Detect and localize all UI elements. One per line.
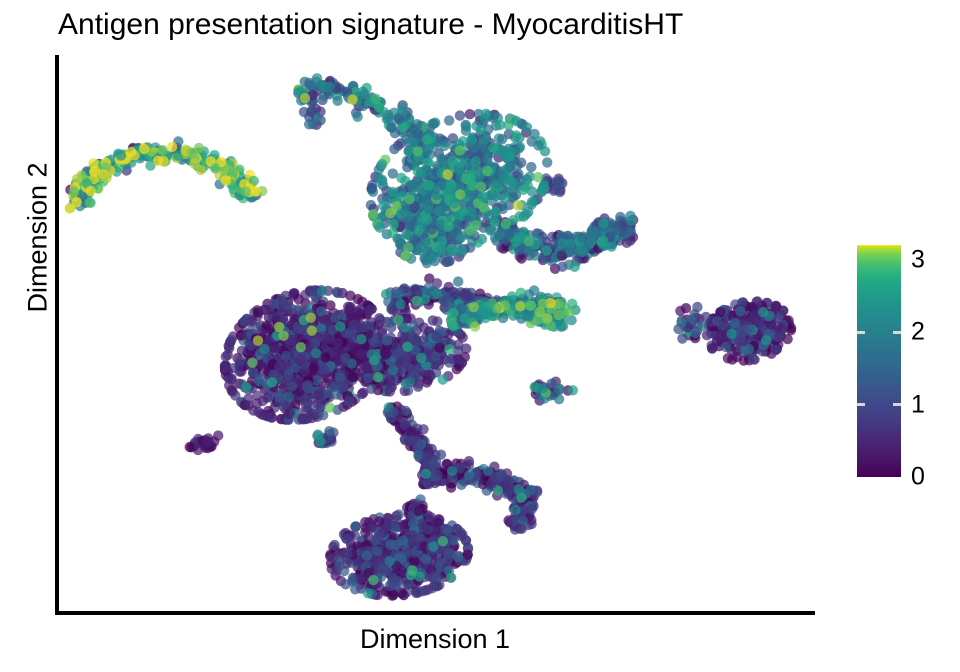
scatter-point [692, 302, 702, 312]
scatter-point [259, 305, 269, 315]
scatter-point [311, 348, 321, 358]
scatter-point [333, 288, 343, 298]
scatter-point [341, 579, 351, 589]
scatter-point [539, 181, 549, 191]
scatter-point [517, 524, 527, 534]
scatter-point [453, 552, 463, 562]
scatter-point [281, 351, 291, 361]
scatter-point [701, 312, 711, 322]
scatter-point [404, 194, 414, 204]
scatter-point [313, 429, 323, 439]
scatter-point [368, 575, 378, 585]
scatter-point [378, 107, 388, 117]
scatter-point [366, 384, 376, 394]
colorbar-tick-mark [857, 331, 865, 334]
scatter-point [306, 313, 316, 323]
scatter-point [516, 158, 526, 168]
scatter-point [284, 408, 294, 418]
colorbar-tick-mark [893, 331, 901, 334]
scatter-point [478, 191, 488, 201]
scatter-point [505, 161, 515, 171]
scatter-point [274, 322, 284, 332]
scatter-point [557, 250, 567, 260]
scatter-point [519, 211, 529, 221]
scatter-point [374, 527, 384, 537]
scatter-point [72, 174, 82, 184]
scatter-point [299, 414, 309, 424]
scatter-point [235, 356, 245, 366]
scatter-point [372, 546, 382, 556]
scatter-point [373, 372, 383, 382]
scatter-point [347, 332, 357, 342]
scatter-point [301, 381, 311, 391]
scatter-point [267, 377, 277, 387]
scatter-point [438, 536, 448, 546]
scatter-point [472, 121, 482, 131]
scatter-point [278, 331, 288, 341]
scatter-point [382, 521, 392, 531]
scatter-point [283, 300, 293, 310]
scatter-point [325, 402, 335, 412]
scatter-point [293, 304, 303, 314]
scatter-point [436, 450, 446, 460]
scatter-point [432, 316, 442, 326]
scatter-point [432, 331, 442, 341]
scatter-point [365, 305, 375, 315]
colorbar-tick-label: 2 [911, 318, 925, 347]
scatter-point [407, 435, 417, 445]
scatter-point [388, 365, 398, 375]
scatter-point [362, 550, 372, 560]
scatter-point [116, 150, 126, 160]
scatter-point [455, 189, 465, 199]
scatter-point [730, 318, 740, 328]
scatter-point [465, 173, 475, 183]
scatter-point [673, 324, 683, 334]
scatter-point [332, 96, 342, 106]
scatter-point [727, 354, 737, 364]
scatter-point [316, 306, 326, 316]
scatter-point [189, 159, 199, 169]
scatter-point [359, 89, 369, 99]
scatter-point [677, 333, 687, 343]
scatter-point [412, 119, 422, 129]
scatter-point [526, 162, 536, 172]
scatter-point [86, 186, 96, 196]
scatter-point [527, 197, 537, 207]
scatter-point [466, 206, 476, 216]
scatter-point [226, 335, 236, 345]
scatter-point [203, 433, 213, 443]
scatter-point [513, 200, 523, 210]
scatter-point [88, 158, 98, 168]
scatter-point [460, 313, 470, 323]
plot-area [59, 55, 815, 611]
scatter-point [452, 364, 462, 374]
scatter-point [427, 253, 437, 263]
scatter-point [394, 234, 404, 244]
scatter-point [226, 374, 236, 384]
scatter-point [284, 370, 294, 380]
scatter-point [453, 276, 463, 286]
scatter-point [300, 93, 310, 103]
scatter-point [388, 407, 398, 417]
colorbar-gradient [857, 245, 901, 477]
scatter-point [391, 515, 401, 525]
scatter-point [400, 323, 410, 333]
scatter-point [524, 236, 534, 246]
scatter-point [369, 355, 379, 365]
scatter-point [409, 332, 419, 342]
scatter-point [411, 588, 421, 598]
scatter-point [440, 204, 450, 214]
scatter-point [126, 147, 136, 157]
scatter-point [317, 286, 327, 296]
scatter-point [516, 288, 526, 298]
scatter-point [416, 353, 426, 363]
scatter-point [675, 306, 685, 316]
scatter-point [375, 222, 385, 232]
scatter-point [542, 157, 552, 167]
scatter-point [382, 335, 392, 345]
scatter-point [771, 301, 781, 311]
scatter-point [221, 351, 231, 361]
scatter-point [296, 342, 306, 352]
scatter-point [470, 321, 480, 331]
scatter-point [378, 200, 388, 210]
scatter-point [422, 134, 432, 144]
scatter-points-layer [59, 55, 815, 611]
scatter-point [448, 246, 458, 256]
scatter-point [348, 372, 358, 382]
scatter-point [368, 209, 378, 219]
scatter-point [707, 343, 717, 353]
scatter-point [187, 147, 197, 157]
scatter-point [335, 321, 345, 331]
scatter-point [293, 294, 303, 304]
scatter-point [377, 174, 387, 184]
scatter-point [262, 393, 272, 403]
scatter-point [481, 134, 491, 144]
scatter-point [540, 146, 550, 156]
scatter-point [484, 211, 494, 221]
scatter-point [262, 411, 272, 421]
scatter-point [360, 322, 370, 332]
scatter-point [443, 526, 453, 536]
scatter-point [342, 534, 352, 544]
scatter-point [432, 573, 442, 583]
scatter-point [514, 484, 524, 494]
scatter-point [377, 564, 387, 574]
scatter-point [488, 143, 498, 153]
scatter-point [253, 335, 263, 345]
scatter-point [153, 156, 163, 166]
scatter-point [309, 363, 319, 373]
scatter-point [271, 343, 281, 353]
scatter-point [210, 163, 220, 173]
scatter-point [430, 118, 440, 128]
scatter-point [356, 349, 366, 359]
scatter-point [576, 244, 586, 254]
scatter-point [157, 145, 167, 155]
scatter-point [307, 326, 317, 336]
scatter-point [319, 364, 329, 374]
scatter-point [381, 289, 391, 299]
scatter-point [535, 307, 545, 317]
scatter-point [424, 181, 434, 191]
scatter-point [340, 353, 350, 363]
scatter-point [396, 209, 406, 219]
scatter-point [578, 233, 588, 243]
scatter-point [402, 342, 412, 352]
scatter-point [469, 302, 479, 312]
scatter-point [524, 311, 534, 321]
scatter-point [453, 340, 463, 350]
scatter-point [457, 244, 467, 254]
scatter-point [329, 540, 339, 550]
scatter-point [515, 301, 525, 311]
scatter-point [228, 167, 238, 177]
scatter-point [352, 112, 362, 122]
scatter-point [529, 129, 539, 139]
scatter-point [744, 324, 754, 334]
scatter-point [446, 181, 456, 191]
scatter-point [557, 238, 567, 248]
scatter-point [413, 146, 423, 156]
scatter-point [241, 382, 251, 392]
scatter-point [446, 482, 456, 492]
scatter-point [167, 142, 177, 152]
scatter-point [461, 121, 471, 131]
scatter-point [455, 110, 465, 120]
scatter-point [598, 218, 608, 228]
scatter-point [335, 560, 345, 570]
scatter-point [526, 301, 536, 311]
scatter-point [719, 320, 729, 330]
scatter-point [343, 302, 353, 312]
scatter-point [455, 145, 465, 155]
scatter-point [715, 307, 725, 317]
scatter-point [241, 314, 251, 324]
colorbar-tick-mark [857, 403, 865, 406]
scatter-point [432, 289, 442, 299]
scatter-point [511, 116, 521, 126]
scatter-point [497, 134, 507, 144]
scatter-point [69, 186, 79, 196]
scatter-point [498, 313, 508, 323]
scatter-point [71, 197, 81, 207]
scatter-point [324, 334, 334, 344]
scatter-point [430, 461, 440, 471]
scatter-point [389, 144, 399, 154]
scatter-point [413, 128, 423, 138]
scatter-point [461, 291, 471, 301]
scatter-point [588, 227, 598, 237]
scatter-point [296, 354, 306, 364]
scatter-point [567, 299, 577, 309]
scatter-point [447, 466, 457, 476]
scatter-point [761, 335, 771, 345]
scatter-point [423, 200, 433, 210]
scatter-point [554, 176, 564, 186]
scatter-point [247, 358, 257, 368]
scatter-point [438, 374, 448, 384]
scatter-point [554, 385, 564, 395]
scatter-point [449, 198, 459, 208]
scatter-point [367, 183, 377, 193]
scatter-point [411, 296, 421, 306]
scatter-point [374, 313, 384, 323]
scatter-point [508, 178, 518, 188]
scatter-point [251, 322, 261, 332]
scatter-point [391, 540, 401, 550]
scatter-point [404, 146, 414, 156]
scatter-point [476, 182, 486, 192]
scatter-point [422, 377, 432, 387]
scatter-point [500, 300, 510, 310]
scatter-point [241, 186, 251, 196]
scatter-point [371, 94, 381, 104]
scatter-point [355, 304, 365, 314]
scatter-point [448, 320, 458, 330]
scatter-point [735, 306, 745, 316]
scatter-point [421, 553, 431, 563]
scatter-point [455, 527, 465, 537]
scatter-point [347, 94, 357, 104]
scatter-point [482, 166, 492, 176]
scatter-point [381, 348, 391, 358]
scatter-point [393, 315, 403, 325]
scatter-point [622, 238, 632, 248]
colorbar-tick-label: 1 [911, 390, 925, 419]
scatter-point [568, 385, 578, 395]
scatter-point [491, 191, 501, 201]
scatter-point [344, 396, 354, 406]
scatter-point [526, 485, 536, 495]
scatter-point [250, 186, 260, 196]
scatter-point [495, 230, 505, 240]
scatter-point [486, 479, 496, 489]
scatter-point [139, 144, 149, 154]
scatter-point [465, 225, 475, 235]
colorbar-tick-label: 3 [911, 245, 925, 274]
scatter-point [455, 233, 465, 243]
scatter-point [444, 344, 454, 354]
scatter-point [370, 337, 380, 347]
scatter-point [395, 114, 405, 124]
scatter-point [252, 398, 262, 408]
scatter-point [314, 389, 324, 399]
scatter-point [511, 237, 521, 247]
scatter-point [342, 548, 352, 558]
scatter-point [566, 245, 576, 255]
scatter-point [444, 115, 454, 125]
scatter-point [421, 469, 431, 479]
scatter-point [402, 162, 412, 172]
scatter-point [315, 402, 325, 412]
scatter-point [442, 169, 452, 179]
scatter-point [428, 541, 438, 551]
scatter-point [348, 320, 358, 330]
scatter-point [405, 377, 415, 387]
scatter-point [287, 381, 297, 391]
scatter-point [385, 208, 395, 218]
scatter-point [416, 168, 426, 178]
scatter-point [439, 141, 449, 151]
scatter-point [331, 389, 341, 399]
scatter-point [773, 321, 783, 331]
scatter-point [481, 109, 491, 119]
scatter-point [508, 516, 518, 526]
scatter-point [259, 344, 269, 354]
scatter-point [456, 157, 466, 167]
scatter-point [350, 522, 360, 532]
scatter-point [410, 539, 420, 549]
scatter-point [457, 303, 467, 313]
scatter-point [758, 307, 768, 317]
scatter-point [600, 240, 610, 250]
scatter-point [407, 565, 417, 575]
scatter-point [446, 573, 456, 583]
scatter-point [432, 190, 442, 200]
scatter-point [495, 120, 505, 130]
scatter-point [320, 352, 330, 362]
scatter-point [449, 287, 459, 297]
scatter-point [748, 354, 758, 364]
scatter-point [363, 588, 373, 598]
scatter-point [423, 525, 433, 535]
scatter-point [283, 391, 293, 401]
scatter-point [432, 470, 442, 480]
scatter-point [538, 383, 548, 393]
scatter-point [511, 130, 521, 140]
scatter-point [412, 245, 422, 255]
colorbar-tick-label: 0 [911, 463, 925, 492]
scatter-point [221, 175, 231, 185]
scatter-point [414, 225, 424, 235]
umap-scatter-figure: Antigen presentation signature - Myocard… [0, 0, 960, 672]
scatter-point [350, 584, 360, 594]
scatter-point [377, 159, 387, 169]
scatter-point [697, 321, 707, 331]
scatter-point [721, 342, 731, 352]
scatter-point [274, 361, 284, 371]
scatter-point [363, 373, 373, 383]
scatter-point [185, 442, 195, 452]
scatter-point [555, 187, 565, 197]
y-axis-label: Dimension 2 [23, 118, 54, 358]
scatter-point [388, 590, 398, 600]
scatter-point [570, 262, 580, 272]
x-axis-label: Dimension 1 [55, 624, 815, 655]
scatter-point [505, 147, 515, 157]
scatter-point [443, 221, 453, 231]
scatter-point [220, 362, 230, 372]
scatter-point [414, 506, 424, 516]
scatter-point [500, 193, 510, 203]
scatter-point [338, 381, 348, 391]
scatter-point [436, 244, 446, 254]
scatter-point [400, 251, 410, 261]
scatter-point [304, 119, 314, 129]
scatter-point [101, 173, 111, 183]
scatter-point [353, 294, 363, 304]
scatter-point [464, 456, 474, 466]
scatter-point [301, 401, 311, 411]
scatter-point [230, 390, 240, 400]
scatter-point [501, 219, 511, 229]
scatter-point [518, 185, 528, 195]
